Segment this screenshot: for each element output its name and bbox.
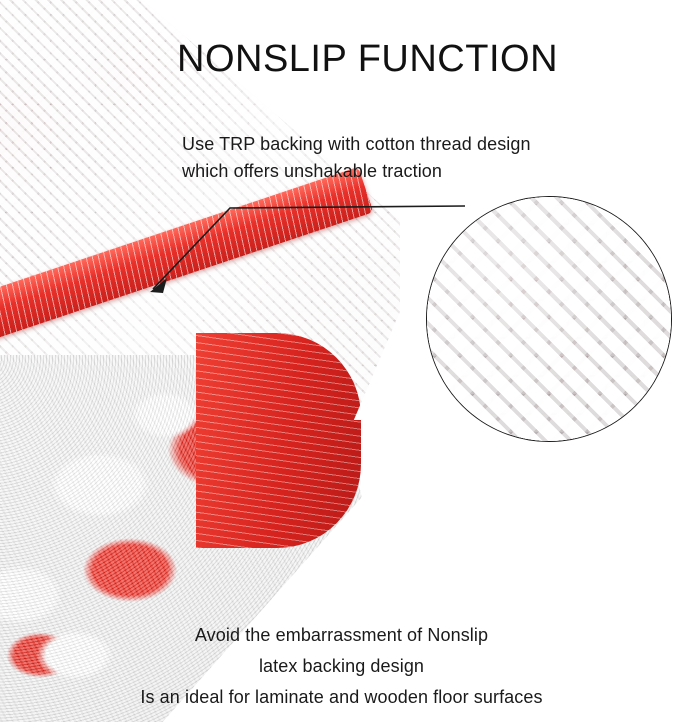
product-feature-image: NONSLIP FUNCTION Use TRP backing with co… <box>0 0 679 722</box>
bottom-text-line-1: Avoid the embarrassment of Nonslip <box>4 620 679 651</box>
page-title: NONSLIP FUNCTION <box>177 38 597 81</box>
callout-text-line-1: Use TRP backing with cotton thread desig… <box>182 134 531 155</box>
bottom-description: Avoid the embarrassment of Nonslip latex… <box>4 620 679 713</box>
magnifier-gloss <box>427 197 671 441</box>
backing-texture-magnifier <box>426 196 672 442</box>
callout-text-line-2: which offers unshakable traction <box>182 161 442 182</box>
product-photo <box>0 0 400 722</box>
binding-fold-corner <box>196 333 361 548</box>
bottom-text-line-2: latex backing design <box>4 651 679 682</box>
bottom-text-line-3: Is an ideal for laminate and wooden floo… <box>4 682 679 713</box>
